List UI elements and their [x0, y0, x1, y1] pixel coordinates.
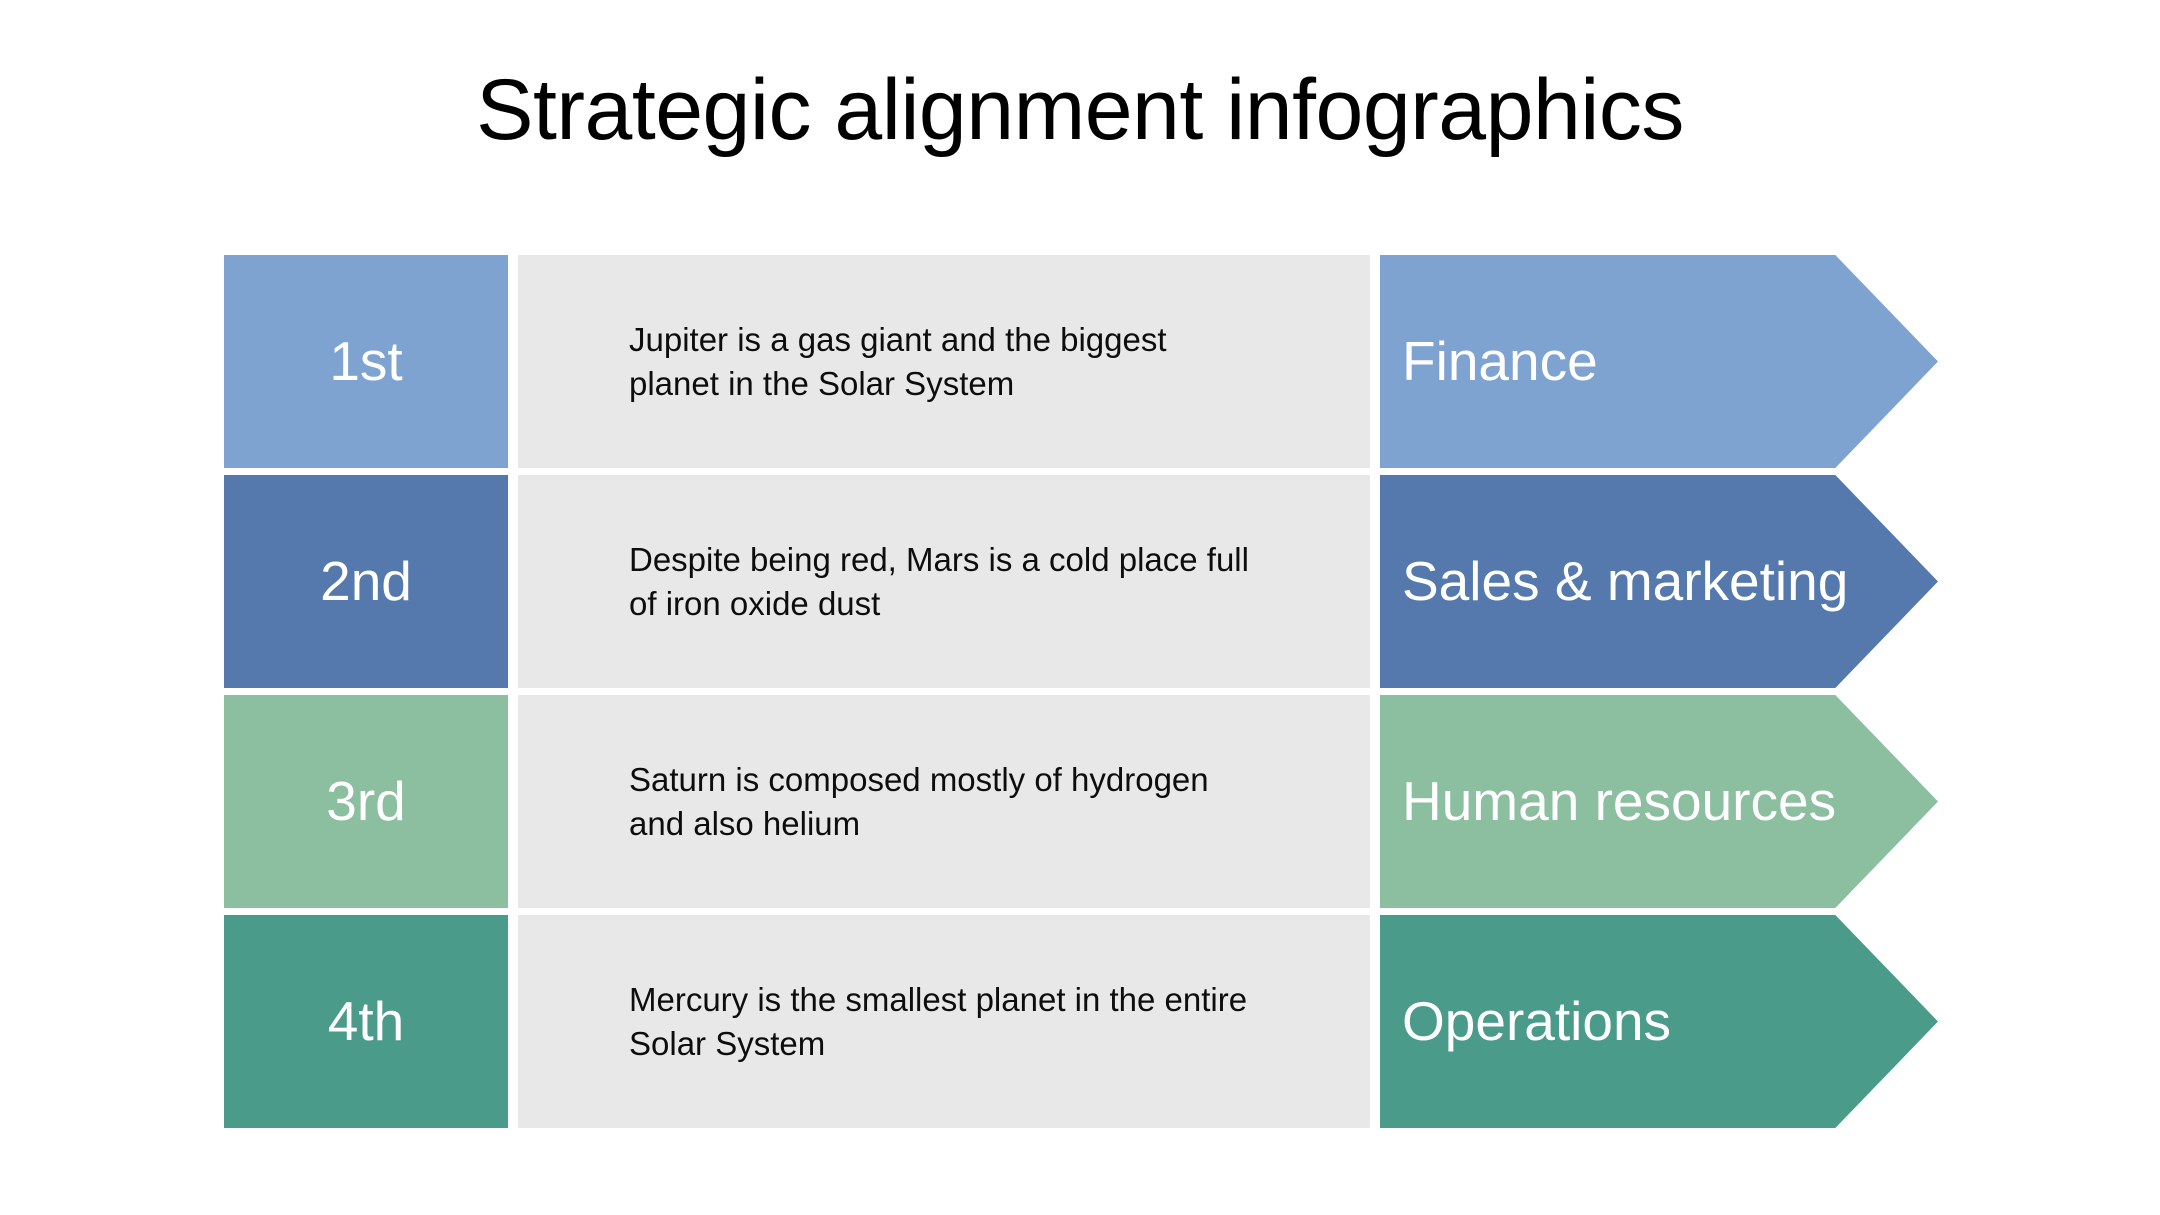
- matrix-row: 2nd Despite being red, Mars is a cold pl…: [224, 475, 1938, 688]
- rank-label: 2nd: [320, 554, 412, 609]
- description-cell[interactable]: Saturn is composed mostly of hydrogen an…: [518, 695, 1370, 908]
- infographic-matrix: 1st Jupiter is a gas giant and the bigge…: [224, 255, 1938, 1128]
- category-arrow[interactable]: Human resources: [1380, 695, 1938, 908]
- rank-label: 3rd: [326, 774, 406, 829]
- category-label: Operations: [1380, 994, 1671, 1049]
- slide-canvas: Strategic alignment infographics 1st Jup…: [0, 0, 2160, 1215]
- description-cell[interactable]: Jupiter is a gas giant and the biggest p…: [518, 255, 1370, 468]
- category-label: Finance: [1380, 334, 1598, 389]
- description-cell[interactable]: Despite being red, Mars is a cold place …: [518, 475, 1370, 688]
- matrix-row: 4th Mercury is the smallest planet in th…: [224, 915, 1938, 1128]
- description-cell[interactable]: Mercury is the smallest planet in the en…: [518, 915, 1370, 1128]
- description-text: Saturn is composed mostly of hydrogen an…: [629, 758, 1259, 845]
- category-label: Human resources: [1380, 774, 1836, 829]
- description-text: Jupiter is a gas giant and the biggest p…: [629, 318, 1259, 405]
- description-text: Despite being red, Mars is a cold place …: [629, 538, 1259, 625]
- rank-label: 4th: [328, 994, 404, 1049]
- rank-cell[interactable]: 2nd: [224, 475, 508, 688]
- category-label: Sales & marketing: [1380, 554, 1848, 609]
- rank-cell[interactable]: 3rd: [224, 695, 508, 908]
- rank-label: 1st: [329, 334, 402, 389]
- rank-cell[interactable]: 4th: [224, 915, 508, 1128]
- rank-cell[interactable]: 1st: [224, 255, 508, 468]
- category-arrow[interactable]: Operations: [1380, 915, 1938, 1128]
- category-arrow[interactable]: Sales & marketing: [1380, 475, 1938, 688]
- category-arrow[interactable]: Finance: [1380, 255, 1938, 468]
- page-title: Strategic alignment infographics: [0, 64, 2160, 157]
- description-text: Mercury is the smallest planet in the en…: [629, 978, 1259, 1065]
- matrix-row: 1st Jupiter is a gas giant and the bigge…: [224, 255, 1938, 468]
- matrix-row: 3rd Saturn is composed mostly of hydroge…: [224, 695, 1938, 908]
